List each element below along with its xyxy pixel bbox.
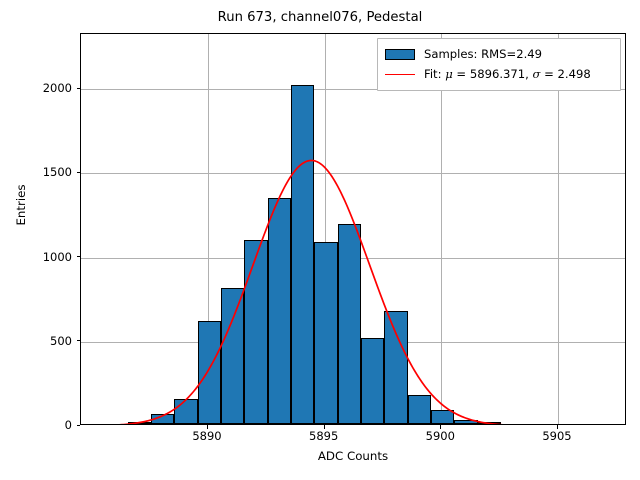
x-tick-label-5890: 5890 [172, 429, 242, 443]
histogram-bar [314, 242, 337, 424]
x-tick-mark [207, 425, 208, 429]
x-axis-label: ADC Counts [80, 449, 626, 463]
legend-mu-symbol: μ [445, 67, 453, 81]
chart-legend: Samples: RMS=2.49 Fit: μ = 5896.371, σ =… [377, 38, 621, 91]
legend-patch-icon [385, 49, 415, 60]
histogram-bar [338, 224, 361, 424]
gridline-vertical [441, 34, 442, 424]
legend-entry-fit: Fit: μ = 5896.371, σ = 2.498 [385, 64, 613, 84]
legend-entry-samples: Samples: RMS=2.49 [385, 44, 613, 64]
x-tick-mark [557, 425, 558, 429]
y-tick-label-0: 0 [4, 418, 72, 432]
x-tick-label-5905: 5905 [522, 429, 592, 443]
y-tick-label-2000: 2000 [4, 81, 72, 95]
legend-label-samples: Samples: RMS=2.49 [424, 47, 542, 61]
figure-canvas: Run 673, channel076, Pedestal Entries AD… [0, 0, 640, 480]
y-tick-label-1000: 1000 [4, 250, 72, 264]
gridline-vertical [558, 34, 559, 424]
legend-line-icon [385, 69, 415, 80]
plot-area [80, 33, 626, 425]
legend-fit-prefix: Fit: [424, 67, 445, 81]
histogram-bar [128, 422, 151, 424]
histogram-bar [384, 311, 407, 424]
histogram-bar [221, 288, 244, 424]
histogram-bar [291, 85, 314, 424]
histogram-bar [408, 395, 431, 424]
gridline-horizontal [81, 173, 625, 174]
histogram-bar [361, 338, 384, 424]
x-tick-label-5895: 5895 [289, 429, 359, 443]
legend-sigma-value: = 2.498 [540, 67, 590, 81]
x-tick-label-5900: 5900 [405, 429, 475, 443]
x-tick-mark [440, 425, 441, 429]
histogram-bar [244, 240, 267, 424]
y-tick-label-500: 500 [4, 334, 72, 348]
histogram-bar [431, 410, 454, 424]
legend-mu-value: = 5896.371, [453, 67, 533, 81]
y-tick-label-1500: 1500 [4, 165, 72, 179]
chart-title: Run 673, channel076, Pedestal [0, 10, 640, 25]
histogram-bar [151, 414, 174, 424]
histogram-bar [454, 420, 477, 424]
histogram-bar [268, 198, 291, 424]
histogram-bar [174, 399, 197, 424]
legend-label-fit: Fit: μ = 5896.371, σ = 2.498 [424, 67, 591, 81]
histogram-bar [198, 321, 221, 424]
histogram-bar [478, 422, 501, 424]
x-tick-mark [324, 425, 325, 429]
